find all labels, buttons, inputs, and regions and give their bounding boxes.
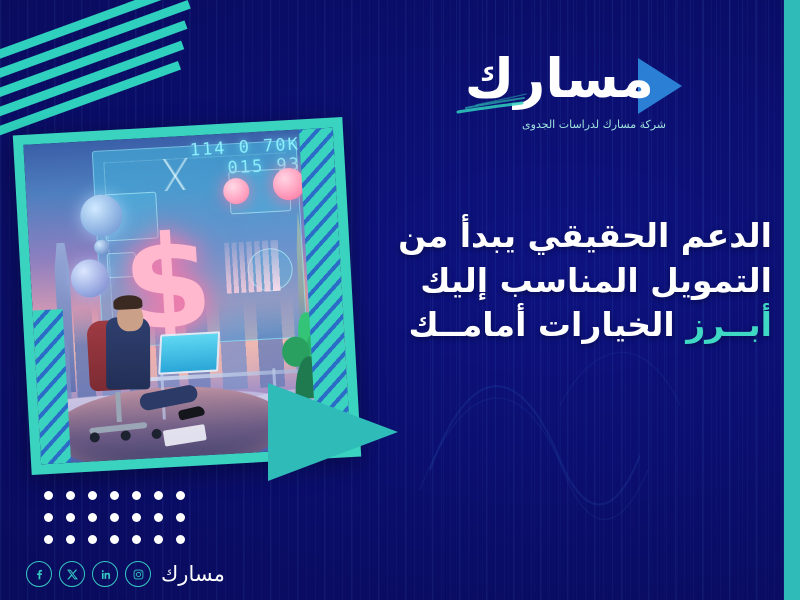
headline-line-3: أبــرز الخيارات أمامــك (352, 303, 772, 348)
social-links (26, 561, 151, 587)
headline: الدعم الحقيقي يبدأ من التمويل المناسب إل… (352, 214, 772, 348)
logo-swoosh-icon (456, 78, 574, 118)
teal-play-triangle (268, 383, 398, 481)
dashboard-bar-chart (224, 239, 288, 293)
chair-wheel (89, 432, 100, 443)
right-edge-teal-band (784, 0, 800, 600)
linkedin-icon[interactable] (92, 561, 118, 587)
instagram-icon[interactable] (125, 561, 151, 587)
footer-bar: مسارك (0, 548, 800, 600)
x-twitter-icon[interactable] (59, 561, 85, 587)
logo-tagline: شركة مسارك لدراسات الجدوى (522, 118, 666, 131)
headline-line-1: الدعم الحقيقي يبدأ من (352, 214, 772, 259)
laptop (158, 331, 220, 375)
footer-brand-name: مسارك (161, 562, 225, 586)
headline-line-2: التمويل المناسب إليك (352, 259, 772, 304)
brand-logo[interactable]: مسارك شركة مسارك لدراسات الجدوى (452, 50, 682, 142)
chair-wheel (151, 428, 162, 439)
headline-accent-word: أبــرز (686, 305, 772, 344)
chair-wheel (120, 430, 131, 441)
poster-canvas: 114 0 70K5 015 933 $ (0, 0, 800, 600)
headline-line-3-rest: الخيارات أمامــك (409, 305, 687, 344)
dashboard-gauge (247, 247, 294, 293)
facebook-icon[interactable] (26, 561, 52, 587)
